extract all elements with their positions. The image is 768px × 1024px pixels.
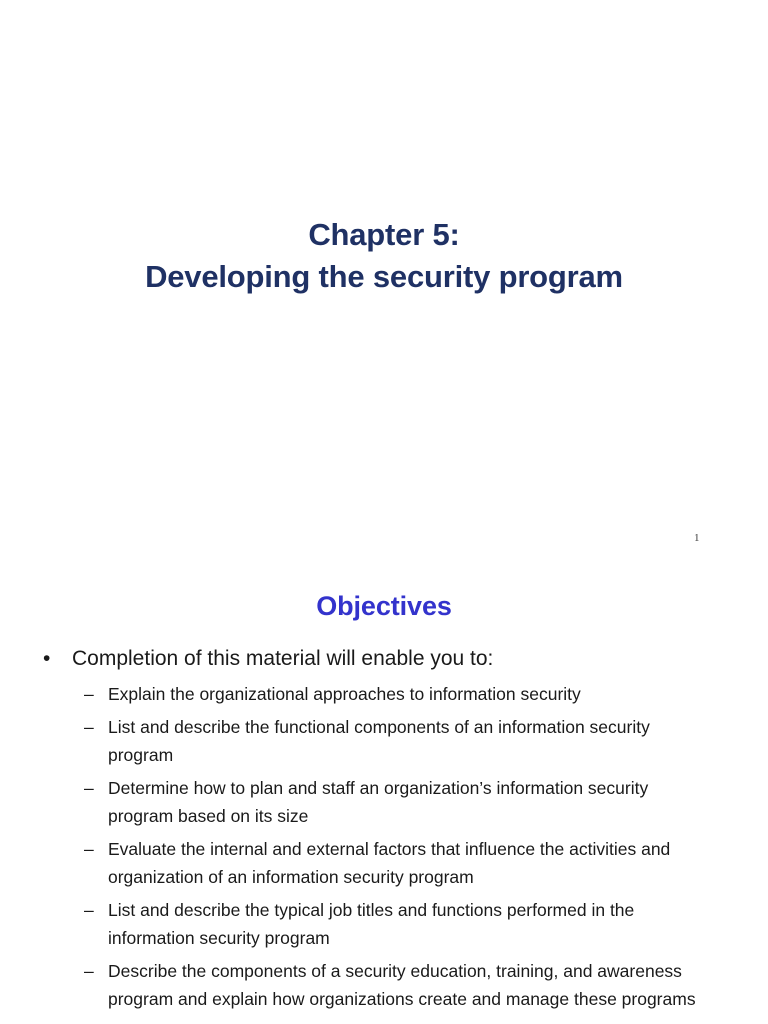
list-item-text: Evaluate the internal and external facto… [108, 835, 715, 892]
dash-bullet-icon: – [84, 713, 94, 742]
list-item: – Describe the components of a security … [0, 957, 768, 1014]
list-item: – List and describe the typical job titl… [0, 896, 768, 953]
list-item: – Explain the organizational approaches … [0, 680, 768, 709]
page-number: 1 [694, 531, 700, 545]
lead-in-bullet: • Completion of this material will enabl… [0, 644, 768, 674]
list-item-text: Explain the organizational approaches to… [108, 680, 715, 709]
objectives-list: – Explain the organizational approaches … [0, 680, 768, 1014]
dash-bullet-icon: – [84, 896, 94, 925]
dash-bullet-icon: – [84, 835, 94, 864]
dash-bullet-icon: – [84, 957, 94, 986]
title-slide: Chapter 5: Developing the security progr… [0, 214, 768, 298]
title-line-1: Chapter 5: [0, 214, 768, 256]
dash-bullet-icon: – [84, 774, 94, 803]
document-page: Chapter 5: Developing the security progr… [0, 0, 768, 1024]
title-line-2: Developing the security program [0, 256, 768, 298]
list-item-text: List and describe the functional compone… [108, 713, 715, 770]
lead-in-text: Completion of this material will enable … [72, 647, 493, 670]
list-item: – Determine how to plan and staff an org… [0, 774, 768, 831]
objectives-body: • Completion of this material will enabl… [0, 644, 768, 1018]
list-item-text: Describe the components of a security ed… [108, 957, 715, 1014]
list-item-text: List and describe the typical job titles… [108, 896, 715, 953]
bullet-dot-icon: • [43, 644, 50, 674]
objectives-heading: Objectives [0, 589, 768, 623]
list-item: – List and describe the functional compo… [0, 713, 768, 770]
dash-bullet-icon: – [84, 680, 94, 709]
list-item-text: Determine how to plan and staff an organ… [108, 774, 715, 831]
list-item: – Evaluate the internal and external fac… [0, 835, 768, 892]
